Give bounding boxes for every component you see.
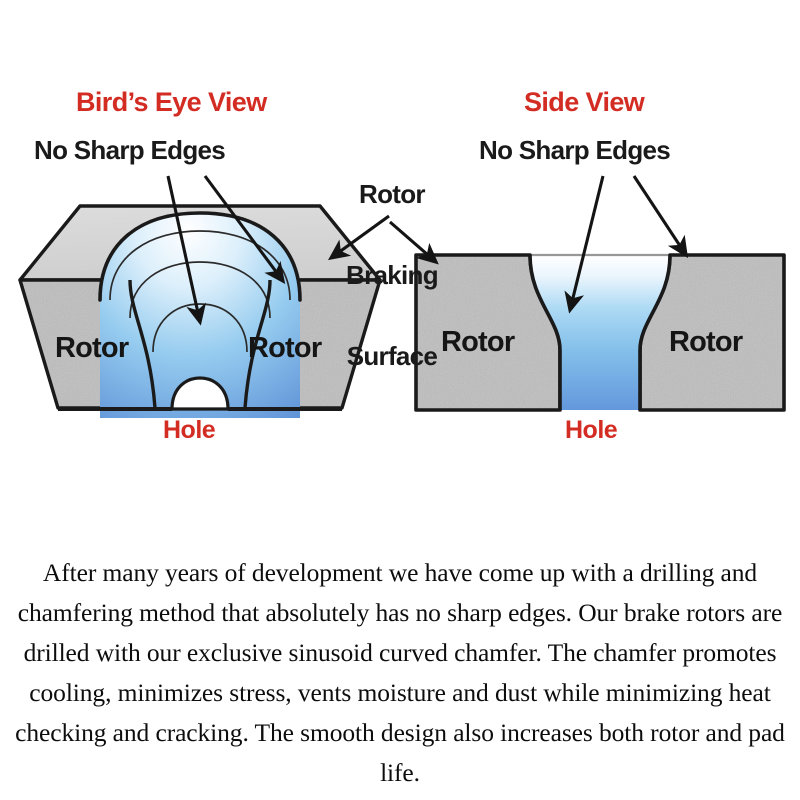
label-no-sharp-edges-side: No Sharp Edges	[479, 137, 670, 164]
side-view-title: Side View	[524, 89, 644, 117]
label-rotor-birds-eye-right: Rotor	[248, 334, 321, 364]
label-rotor-side-left: Rotor	[441, 328, 514, 358]
label-no-sharp-edges-birds-eye: No Sharp Edges	[34, 137, 225, 164]
label-rotor-side-right: Rotor	[669, 328, 742, 358]
arrow-side-no-sharp-edges-right	[634, 176, 686, 255]
braking-surface-line-3: Surface	[346, 343, 438, 370]
diagram-canvas: Bird’s Eye View Side View No Sharp Edges…	[0, 0, 800, 800]
label-rotor-braking-surface: Rotor Braking Surface	[346, 127, 438, 424]
label-rotor-birds-eye-left: Rotor	[55, 334, 128, 364]
label-hole-side: Hole	[565, 418, 617, 444]
braking-surface-line-1: Rotor	[346, 181, 438, 208]
label-hole-birds-eye: Hole	[163, 418, 215, 444]
description-paragraph: After many years of development we have …	[8, 553, 792, 793]
braking-surface-line-2: Braking	[346, 262, 438, 289]
birds-eye-view-title: Bird’s Eye View	[76, 89, 267, 117]
